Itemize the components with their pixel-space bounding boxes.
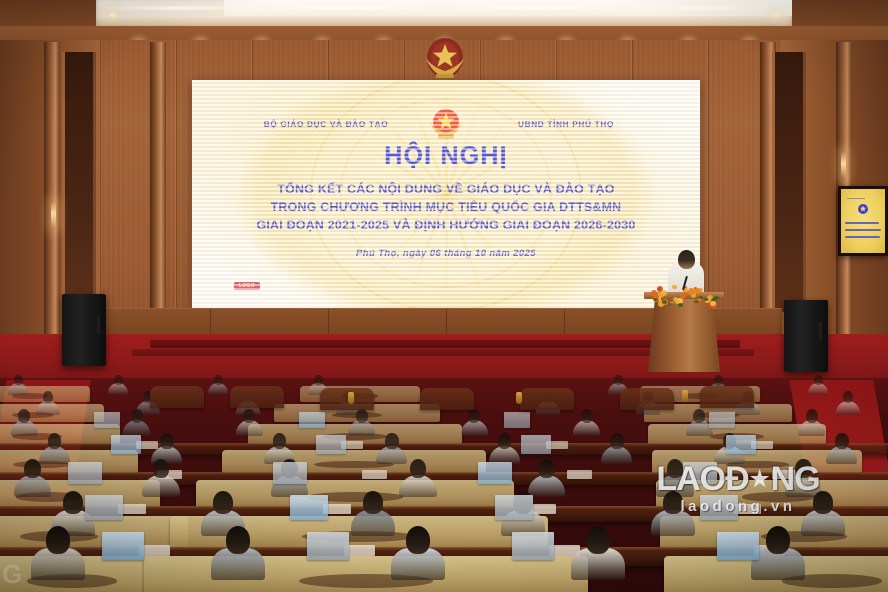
flower-leaf [669, 303, 674, 306]
attendee-laptop[interactable] [111, 435, 141, 454]
attendee-laptop[interactable] [726, 435, 756, 454]
attendee-document [567, 470, 592, 479]
attendee-laptop[interactable] [521, 435, 551, 454]
seat-bank[interactable] [222, 450, 486, 473]
attendee-head [24, 459, 41, 478]
attendee-laptop[interactable] [299, 412, 325, 428]
attendee-laptop[interactable] [700, 495, 738, 520]
attendee-laptop[interactable] [290, 495, 328, 520]
vip-chair-back[interactable] [320, 388, 374, 410]
attendee-head [586, 526, 610, 554]
attendee-head [46, 526, 70, 554]
attendee-head [714, 375, 723, 386]
attendee-head [18, 409, 30, 423]
attendee-document [362, 470, 387, 479]
attendee-head [356, 409, 368, 423]
attendee-head [160, 433, 174, 449]
slide-national-emblem-icon [426, 106, 466, 142]
attendee-head [663, 491, 683, 514]
vip-chair-back[interactable] [230, 386, 284, 408]
attendee-head [835, 433, 849, 449]
side-display-text-line-1 [845, 222, 879, 224]
attendee-head [410, 459, 427, 478]
attendee-laptop[interactable] [85, 495, 123, 520]
table-flower-vase [682, 390, 688, 402]
attendee-head [693, 409, 705, 423]
table-flower-vase [516, 392, 522, 404]
attendee-head [468, 409, 480, 423]
attendee-laptop[interactable] [102, 532, 144, 560]
side-display-emblem-icon [856, 203, 870, 216]
side-display-header-line [847, 198, 865, 200]
attendee-head [498, 433, 512, 449]
wall-national-emblem [418, 34, 472, 82]
attendee-head [806, 409, 818, 423]
right-loudspeaker [784, 300, 828, 372]
flower-leaf [698, 296, 703, 299]
attendee-head [243, 409, 255, 423]
ceiling-light-slot [106, 6, 246, 10]
vip-chair-back[interactable] [420, 388, 474, 410]
attendee-head [131, 409, 143, 423]
slide-subtitle-line-2: TRONG CHƯƠNG TRÌNH MỤC TIÊU QUỐC GIA DTT… [192, 198, 700, 216]
attendee-head [538, 459, 555, 478]
attendee-head [214, 375, 223, 386]
side-display-text-line-2 [845, 229, 881, 231]
attendee-laptop[interactable] [478, 462, 512, 484]
slide-content: BỘ GIÁO DỤC VÀ ĐÀO TẠO UBND TỈNH PHÚ THỌ… [192, 80, 700, 308]
attendee-head [610, 433, 624, 449]
flower-blossom [688, 288, 695, 295]
downlight [108, 12, 117, 18]
slide-subtitle: TỔNG KẾT CÁC NỘI DUNG VỀ GIÁO DỤC VÀ ĐÀO… [192, 180, 700, 234]
attendee-head [226, 526, 250, 554]
attendee-laptop[interactable] [683, 462, 717, 484]
side-wall-display [838, 186, 888, 256]
attendee-head [406, 526, 430, 554]
slide-subtitle-line-3: GIAI ĐOẠN 2021-2025 VÀ ĐỊNH HƯỚNG GIAI Đ… [192, 216, 700, 234]
attendee-head [614, 375, 623, 386]
left-doorway[interactable] [62, 52, 96, 312]
attendee-head [581, 409, 593, 423]
flower-leaf [704, 298, 709, 301]
slide-title: HỘI NGHỊ [192, 142, 700, 171]
ceiling-light-slot [256, 6, 436, 10]
attendee-head [385, 433, 399, 449]
attendee-head [114, 375, 123, 386]
attendee-laptop[interactable] [495, 495, 533, 520]
flower-leaf [678, 303, 683, 306]
attendee-head [63, 491, 83, 514]
side-display-text-line-3 [845, 236, 880, 238]
flower-blossom [661, 290, 667, 296]
conference-hall-photo: BỘ GIÁO DỤC VÀ ĐÀO TẠO UBND TỈNH PHÚ THỌ… [0, 0, 888, 592]
attendee-head [314, 375, 323, 386]
attendee-laptop[interactable] [307, 532, 349, 560]
vip-chair-back[interactable] [700, 386, 754, 408]
attendee-head [766, 526, 790, 554]
left-loudspeaker [62, 294, 106, 366]
attendee-head [273, 433, 287, 449]
downlight [772, 12, 781, 18]
attendee-head [795, 459, 812, 478]
flower-blossom [672, 285, 676, 289]
attendee-head [814, 375, 823, 386]
presenter-head [678, 250, 695, 269]
left-wall-sconce [51, 200, 56, 230]
attendee-head [43, 391, 54, 403]
desk-edge [0, 472, 888, 475]
attendee-head [363, 491, 383, 514]
attendee-head [813, 491, 833, 514]
flower-blossom [699, 288, 703, 292]
slide-org-row: BỘ GIÁO DỤC VÀ ĐÀO TẠO UBND TỈNH PHÚ THỌ [192, 106, 700, 142]
attendee-head [48, 433, 62, 449]
attendee-laptop[interactable] [316, 435, 346, 454]
attendee-laptop[interactable] [709, 412, 735, 428]
attendee-laptop[interactable] [512, 532, 554, 560]
attendee-laptop[interactable] [504, 412, 530, 428]
attendee-laptop[interactable] [68, 462, 102, 484]
attendee-laptop[interactable] [717, 532, 759, 560]
seat-bank[interactable] [196, 480, 514, 507]
attendee-head [667, 459, 684, 478]
attendee-head [843, 391, 854, 403]
projection-screen: BỘ GIÁO DỤC VÀ ĐÀO TẠO UBND TỈNH PHÚ THỌ… [192, 80, 700, 308]
attendee-laptop[interactable] [273, 462, 307, 484]
right-doorway[interactable] [772, 52, 806, 312]
ceiling-light-slot [446, 6, 626, 10]
side-display-screen [841, 189, 885, 253]
slide-subtitle-line-1: TỔNG KẾT CÁC NỘI DUNG VỀ GIÁO DỤC VÀ ĐÀO… [192, 180, 700, 198]
attendee-laptop[interactable] [94, 412, 120, 428]
slide-date: Phú Thọ, ngày 06 tháng 10 năm 2025 [192, 248, 700, 259]
flower-leaf [694, 300, 699, 303]
attendee-head [153, 459, 170, 478]
slide-org-left: BỘ GIÁO DỤC VÀ ĐÀO TẠO [226, 120, 426, 129]
table-flower-vase [348, 392, 354, 404]
vip-chair-back[interactable] [520, 388, 574, 410]
attendee-head [14, 375, 23, 386]
attendee-head [213, 491, 233, 514]
watermark-corner-mark: G [2, 559, 22, 590]
right-wall-sconce [841, 150, 846, 180]
ceiling-light-slot [636, 6, 776, 10]
vip-chair-back[interactable] [150, 386, 204, 408]
slide-logo-badge: LOGO [234, 282, 260, 290]
vip-chair-back[interactable] [620, 388, 674, 410]
slide-org-right: UBND TỈNH PHÚ THỌ [466, 120, 666, 129]
